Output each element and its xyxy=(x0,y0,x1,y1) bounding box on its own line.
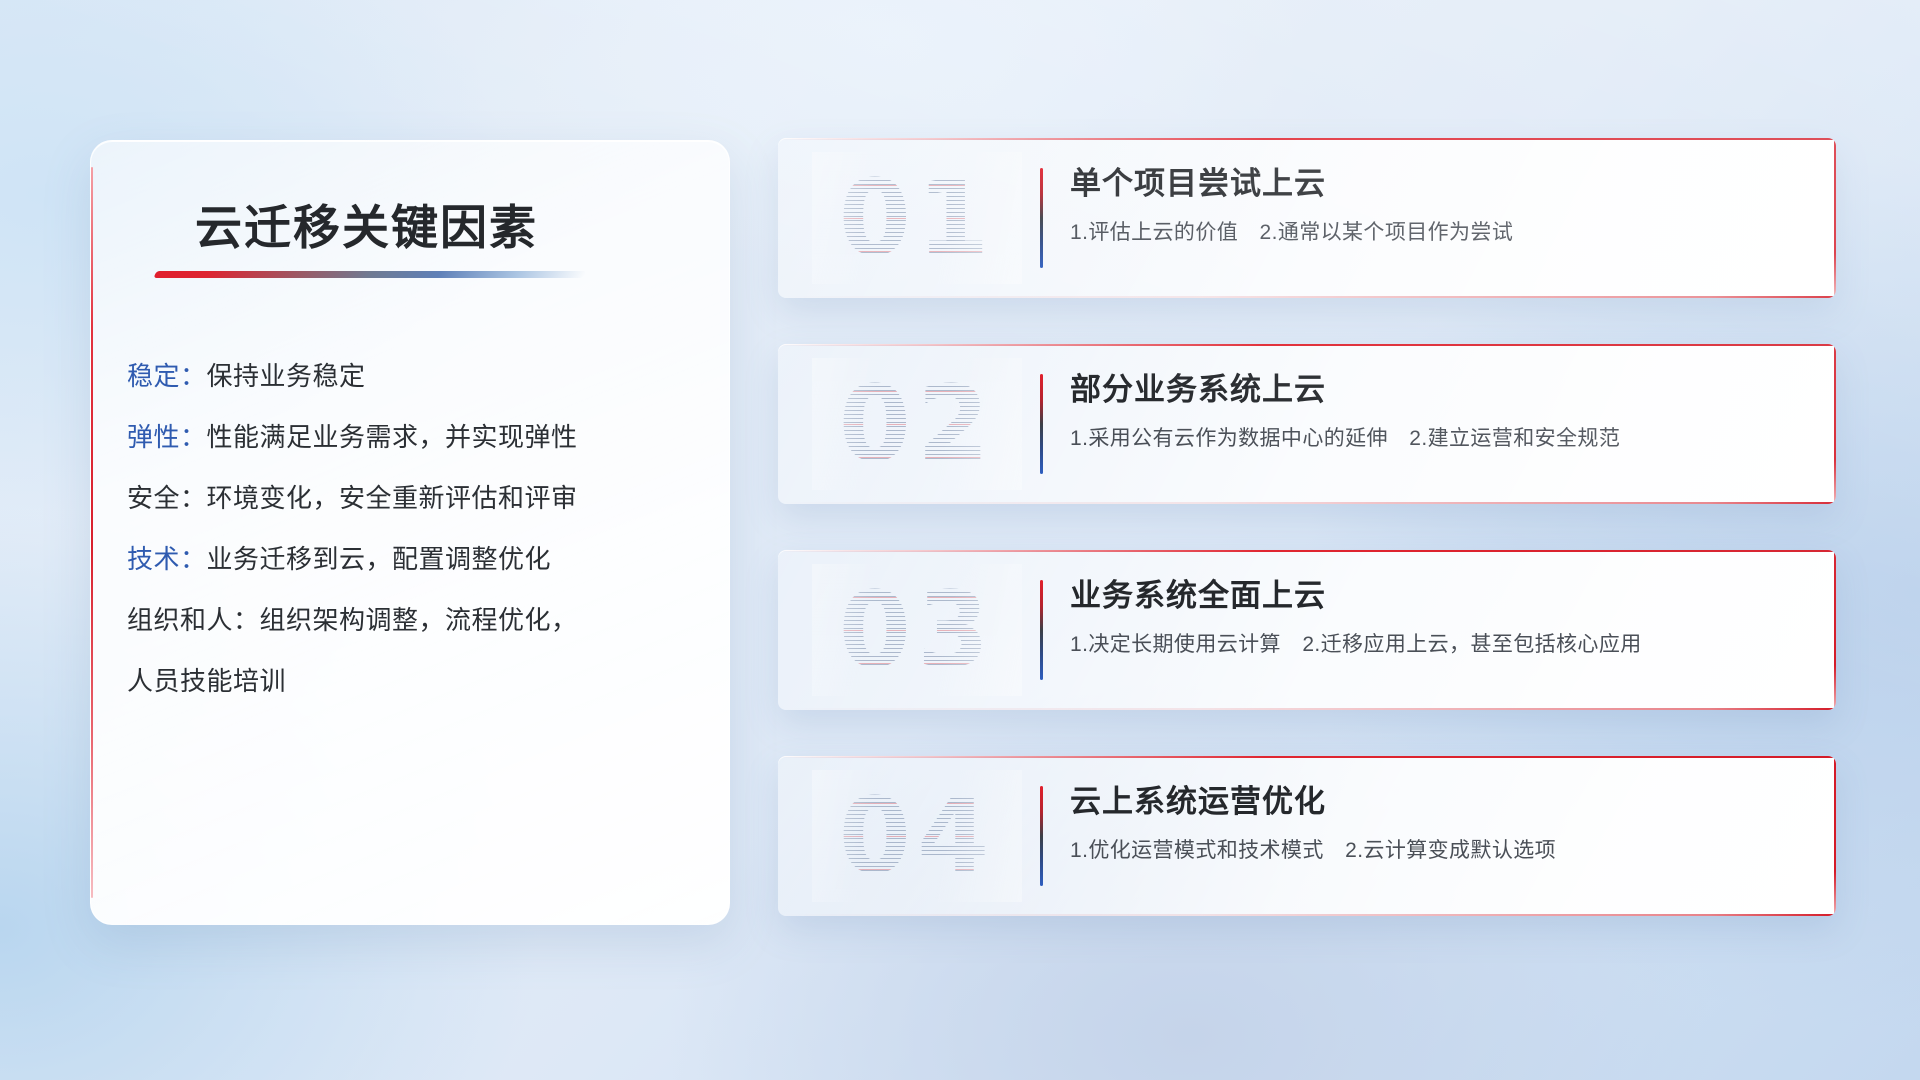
card-divider xyxy=(1040,580,1043,680)
list-item: 安全：环境变化，安全重新评估和评审 xyxy=(127,468,699,529)
stage-card[interactable]: 01 单个项目尝试上云 1.评估上云的价值 2.通常以某个项目作为尝试 xyxy=(778,138,1836,298)
card-content: 单个项目尝试上云 1.评估上云的价值 2.通常以某个项目作为尝试 xyxy=(1070,162,1808,248)
fact-text: 组织架构调整，流程优化， xyxy=(260,605,578,635)
card-divider xyxy=(1040,374,1043,474)
card-description: 1.评估上云的价值 2.通常以某个项目作为尝试 xyxy=(1070,218,1808,248)
card-divider xyxy=(1040,168,1043,268)
card-title: 部分业务系统上云 xyxy=(1070,368,1808,412)
stage-card[interactable]: 02 部分业务系统上云 1.采用公有云作为数据中心的延伸 2.建立运营和安全规范 xyxy=(778,344,1836,504)
card-bottom-accent xyxy=(778,502,1836,504)
fact-text: 保持业务稳定 xyxy=(207,361,366,391)
key-factors-list: 稳定：保持业务稳定 弹性：性能满足业务需求，并实现弹性 安全：环境变化，安全重新… xyxy=(127,346,699,712)
card-description: 1.决定长期使用云计算 2.迁移应用上云，甚至包括核心应用 xyxy=(1070,630,1808,660)
stage-card[interactable]: 03 业务系统全面上云 1.决定长期使用云计算 2.迁移应用上云，甚至包括核心应… xyxy=(778,550,1836,710)
fact-text: 人员技能培训 xyxy=(127,666,286,696)
list-item: 弹性：性能满足业务需求，并实现弹性 xyxy=(127,407,699,468)
stage-number-watermark: 03 xyxy=(812,564,1022,696)
card-content: 部分业务系统上云 1.采用公有云作为数据中心的延伸 2.建立运营和安全规范 xyxy=(1070,368,1808,454)
slide-canvas: 云迁移关键因素 稳定：保持业务稳定 弹性：性能满足业务需求，并实现弹性 安全：环… xyxy=(0,0,1920,1080)
card-content: 业务系统全面上云 1.决定长期使用云计算 2.迁移应用上云，甚至包括核心应用 xyxy=(1070,574,1808,660)
card-title: 单个项目尝试上云 xyxy=(1070,162,1808,206)
list-item: 组织和人：组织架构调整，流程优化， xyxy=(127,590,699,651)
fact-key: 弹性： xyxy=(127,422,207,452)
list-item: 技术：业务迁移到云，配置调整优化 xyxy=(127,529,699,590)
fact-key: 技术： xyxy=(127,544,207,574)
card-content: 云上系统运营优化 1.优化运营模式和技术模式 2.云计算变成默认选项 xyxy=(1070,780,1808,866)
card-right-accent xyxy=(1834,550,1836,710)
fact-text: 性能满足业务需求，并实现弹性 xyxy=(207,422,578,452)
card-top-accent xyxy=(778,344,1836,346)
list-item: 稳定：保持业务稳定 xyxy=(127,346,699,407)
title-underline-gradient xyxy=(153,271,586,278)
key-factors-panel: 云迁移关键因素 稳定：保持业务稳定 弹性：性能满足业务需求，并实现弹性 安全：环… xyxy=(90,140,730,925)
card-description: 1.优化运营模式和技术模式 2.云计算变成默认选项 xyxy=(1070,836,1808,866)
fact-key: 安全： xyxy=(127,483,207,513)
card-description: 1.采用公有云作为数据中心的延伸 2.建立运营和安全规范 xyxy=(1070,424,1808,454)
card-divider xyxy=(1040,786,1043,886)
card-bottom-accent xyxy=(778,914,1836,916)
stage-number-watermark: 04 xyxy=(812,770,1022,902)
card-right-accent xyxy=(1834,756,1836,916)
stage-number-watermark: 02 xyxy=(812,358,1022,490)
card-right-accent xyxy=(1834,138,1836,298)
fact-text: 环境变化，安全重新评估和评审 xyxy=(207,483,578,513)
stage-card[interactable]: 04 云上系统运营优化 1.优化运营模式和技术模式 2.云计算变成默认选项 xyxy=(778,756,1836,916)
fact-key: 稳定： xyxy=(127,361,207,391)
card-title: 业务系统全面上云 xyxy=(1070,574,1808,618)
card-bottom-accent xyxy=(778,708,1836,710)
card-title: 云上系统运营优化 xyxy=(1070,780,1808,824)
migration-stage-cards: 01 单个项目尝试上云 1.评估上云的价值 2.通常以某个项目作为尝试 02 部… xyxy=(778,138,1836,962)
panel-accent-bar xyxy=(91,167,93,898)
card-bottom-accent xyxy=(778,296,1836,298)
card-right-accent xyxy=(1834,344,1836,504)
card-top-accent xyxy=(778,138,1836,140)
card-top-accent xyxy=(778,550,1836,552)
fact-text: 业务迁移到云，配置调整优化 xyxy=(207,544,552,574)
fact-key: 组织和人： xyxy=(127,605,260,635)
stage-number-watermark: 01 xyxy=(812,152,1022,284)
list-item-continuation: 人员技能培训 xyxy=(127,651,699,712)
page-title: 云迁移关键因素 xyxy=(195,189,538,258)
card-top-accent xyxy=(778,756,1836,758)
